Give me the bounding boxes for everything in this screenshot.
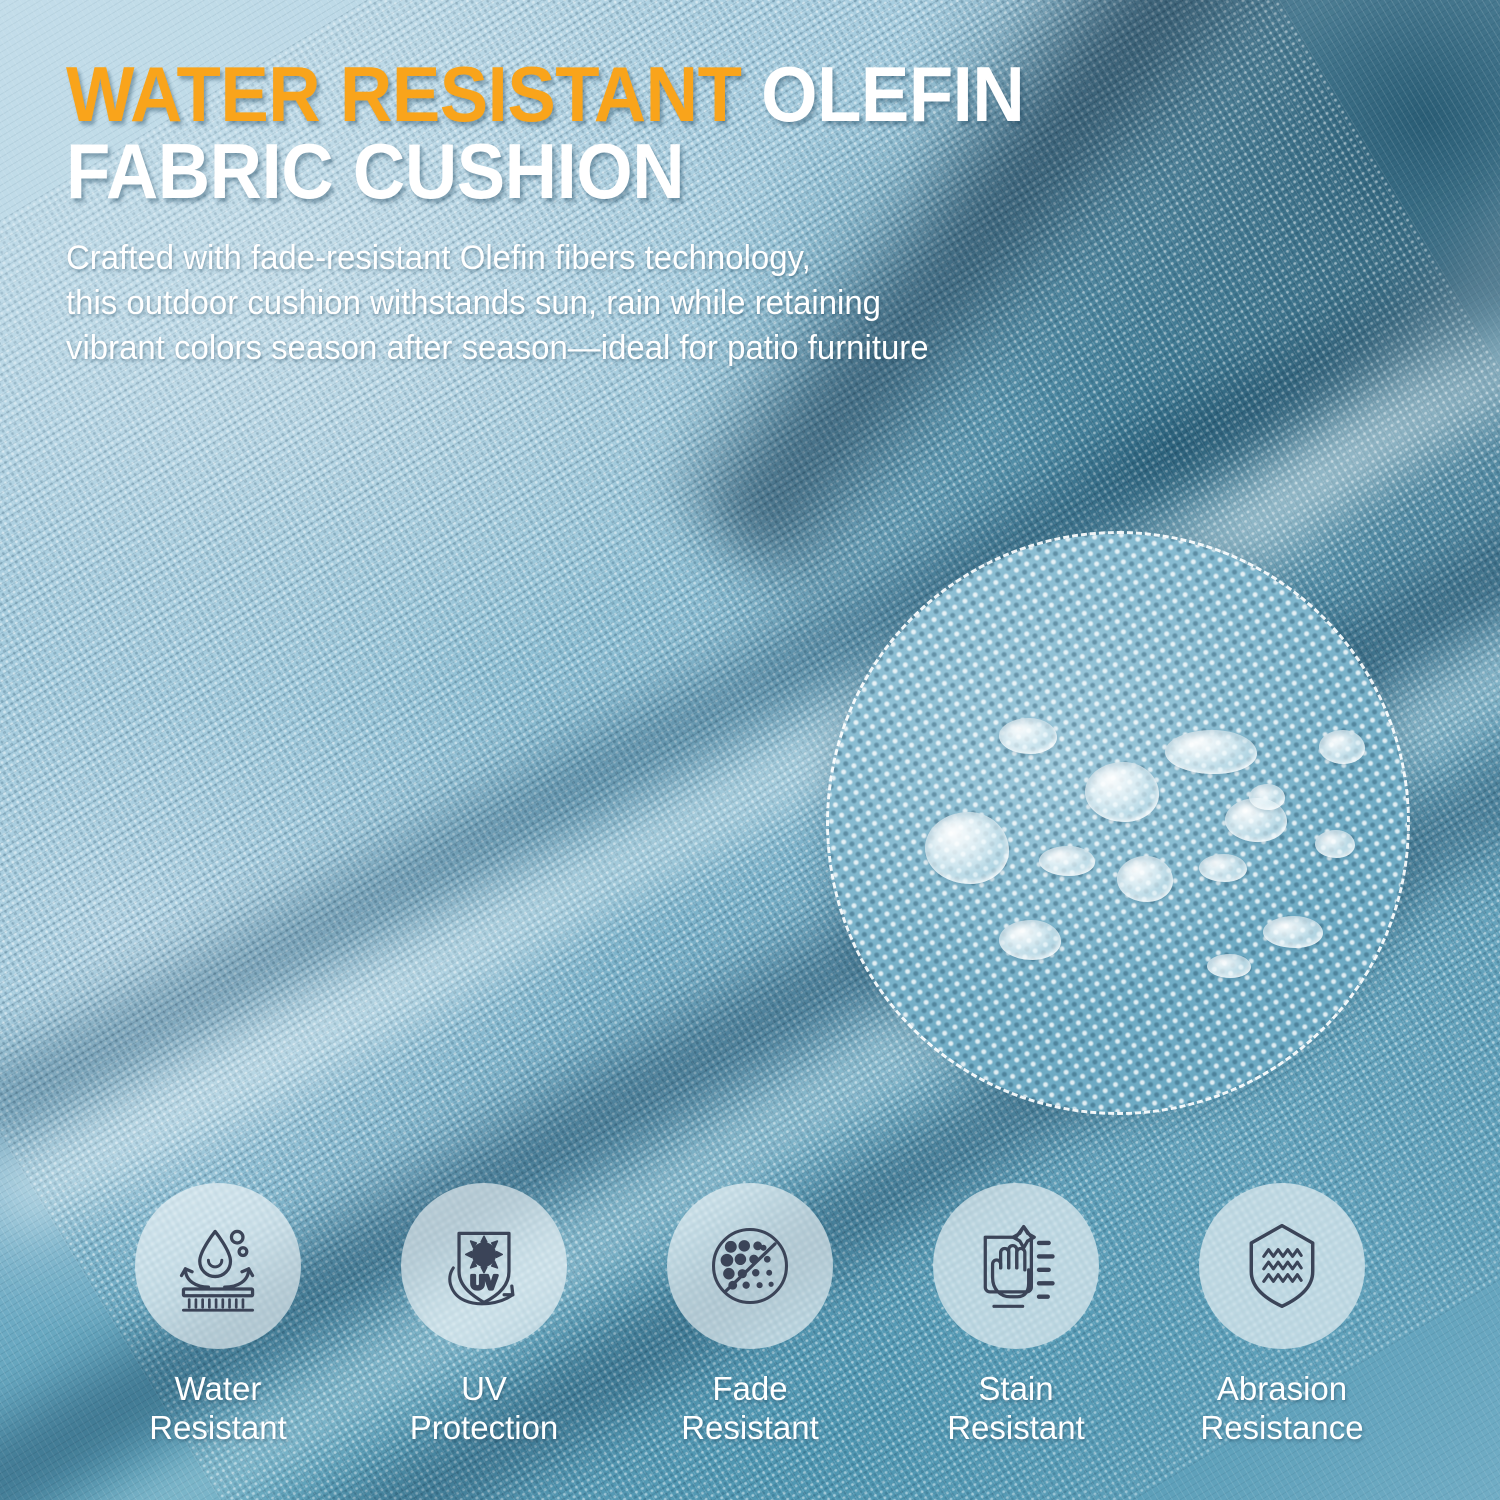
feature-abrasion-resistance: Abrasion Resistance bbox=[1176, 1183, 1388, 1448]
water-droplet bbox=[999, 718, 1057, 754]
feature-uv-protection: UV UV Protection bbox=[378, 1183, 590, 1448]
magnifier-weave-texture bbox=[826, 531, 1410, 1115]
feature-water-resistant: Water Resistant bbox=[112, 1183, 324, 1448]
feature-label: Water Resistant bbox=[149, 1369, 287, 1448]
description-line-3: vibrant colors season after season—ideal… bbox=[66, 326, 1327, 371]
feature-badge bbox=[135, 1183, 301, 1349]
description-line-2: this outdoor cushion withstands sun, rai… bbox=[66, 281, 1327, 326]
headline-accent-text: WATER RESISTANT bbox=[66, 50, 741, 138]
water-droplet bbox=[1315, 830, 1355, 858]
product-feature-banner: WATER RESISTANT OLEFIN FABRIC CUSHION Cr… bbox=[0, 0, 1500, 1500]
feature-badge bbox=[933, 1183, 1099, 1349]
water-droplet bbox=[1117, 856, 1173, 902]
water-droplet bbox=[1249, 784, 1285, 810]
water-droplet bbox=[999, 920, 1061, 960]
page-title: WATER RESISTANT OLEFIN FABRIC CUSHION bbox=[66, 56, 1294, 210]
water-droplet bbox=[1199, 854, 1247, 882]
water-droplet bbox=[1319, 730, 1365, 764]
magnifier-fabric bbox=[829, 534, 1407, 1112]
feature-label: Abrasion Resistance bbox=[1200, 1369, 1363, 1448]
water-drop-repel-icon bbox=[170, 1218, 266, 1314]
water-droplet bbox=[1085, 762, 1159, 822]
feature-stain-resistant: Stain Resistant bbox=[910, 1183, 1122, 1448]
magnifier-circle bbox=[826, 531, 1410, 1115]
water-droplet bbox=[1263, 916, 1323, 948]
headline-line-2: FABRIC CUSHION bbox=[66, 133, 1294, 210]
feature-badge bbox=[1199, 1183, 1365, 1349]
water-droplet bbox=[1207, 954, 1251, 978]
description-line-1: Crafted with fade-resistant Olefin fiber… bbox=[66, 236, 1327, 281]
water-droplet bbox=[925, 812, 1009, 884]
headline-white-text: OLEFIN bbox=[761, 50, 1024, 138]
headline-block: WATER RESISTANT OLEFIN FABRIC CUSHION Cr… bbox=[66, 56, 1386, 371]
hand-wipe-cloth-icon bbox=[968, 1218, 1064, 1314]
water-droplet bbox=[1039, 846, 1095, 876]
feature-badge bbox=[667, 1183, 833, 1349]
headline-line-1: WATER RESISTANT OLEFIN bbox=[66, 56, 1294, 133]
fade-dots-crossed-icon bbox=[702, 1218, 798, 1314]
svg-text:UV: UV bbox=[471, 1273, 498, 1294]
feature-fade-resistant: Fade Resistant bbox=[644, 1183, 856, 1448]
uv-shield-sun-icon: UV bbox=[436, 1218, 532, 1314]
description-text: Crafted with fade-resistant Olefin fiber… bbox=[66, 236, 1327, 371]
feature-label: Stain Resistant bbox=[947, 1369, 1085, 1448]
feature-label: Fade Resistant bbox=[681, 1369, 819, 1448]
shield-zigzag-weave-icon bbox=[1234, 1218, 1330, 1314]
feature-label: UV Protection bbox=[410, 1369, 559, 1448]
feature-badge: UV bbox=[401, 1183, 567, 1349]
feature-icon-row: Water Resistant UV UV Protection bbox=[0, 1183, 1500, 1448]
water-droplet bbox=[1165, 730, 1257, 774]
